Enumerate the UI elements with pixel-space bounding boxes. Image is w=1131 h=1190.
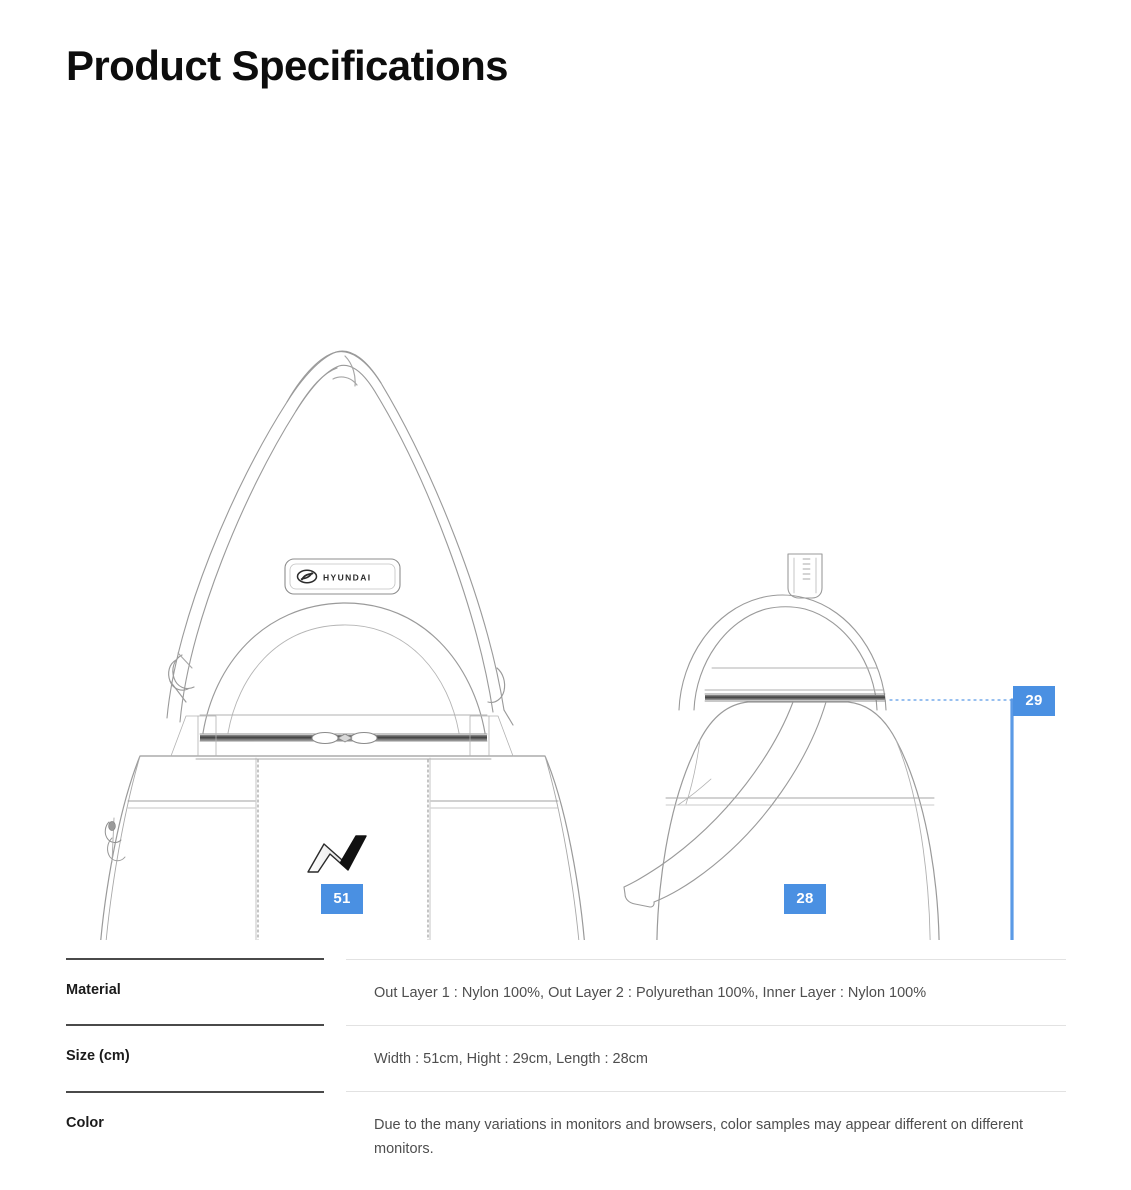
spec-value-size: Width : 51cm, Hight : 29cm, Length : 28c… xyxy=(346,1025,1066,1091)
dimension-badge-width: 51 xyxy=(321,884,363,914)
spec-label-size: Size (cm) xyxy=(66,1025,324,1091)
bag-side-view xyxy=(624,554,939,940)
column-spacer xyxy=(324,959,346,1025)
bag-front-view xyxy=(94,351,591,940)
product-illustration: HYUNDAI xyxy=(0,150,1131,940)
page-title: Product Specifications xyxy=(66,42,508,90)
spec-value-color: Due to the many variations in monitors a… xyxy=(346,1092,1066,1181)
spec-label-material: Material xyxy=(66,959,324,1025)
spec-value-material: Out Layer 1 : Nylon 100%, Out Layer 2 : … xyxy=(346,959,1066,1025)
spec-label-color: Color xyxy=(66,1092,324,1181)
zipper-pull-right xyxy=(351,733,377,744)
zipper-pull-left xyxy=(312,733,338,744)
svg-text:HYUNDAI: HYUNDAI xyxy=(323,573,372,583)
column-spacer xyxy=(324,1025,346,1091)
side-zipper xyxy=(705,695,885,700)
table-row: Color Due to the many variations in moni… xyxy=(66,1092,1066,1181)
specifications-table: Material Out Layer 1 : Nylon 100%, Out L… xyxy=(66,958,1066,1181)
table-row: Size (cm) Width : 51cm, Hight : 29cm, Le… xyxy=(66,1025,1066,1091)
table-row: Material Out Layer 1 : Nylon 100%, Out L… xyxy=(66,959,1066,1025)
product-specifications-page: Product Specifications xyxy=(0,0,1131,1190)
dimension-badge-depth: 28 xyxy=(784,884,826,914)
column-spacer xyxy=(324,1092,346,1181)
top-handle-tab xyxy=(788,554,822,598)
n-performance-logo xyxy=(308,836,366,872)
dimension-badge-height: 29 xyxy=(1013,686,1055,716)
